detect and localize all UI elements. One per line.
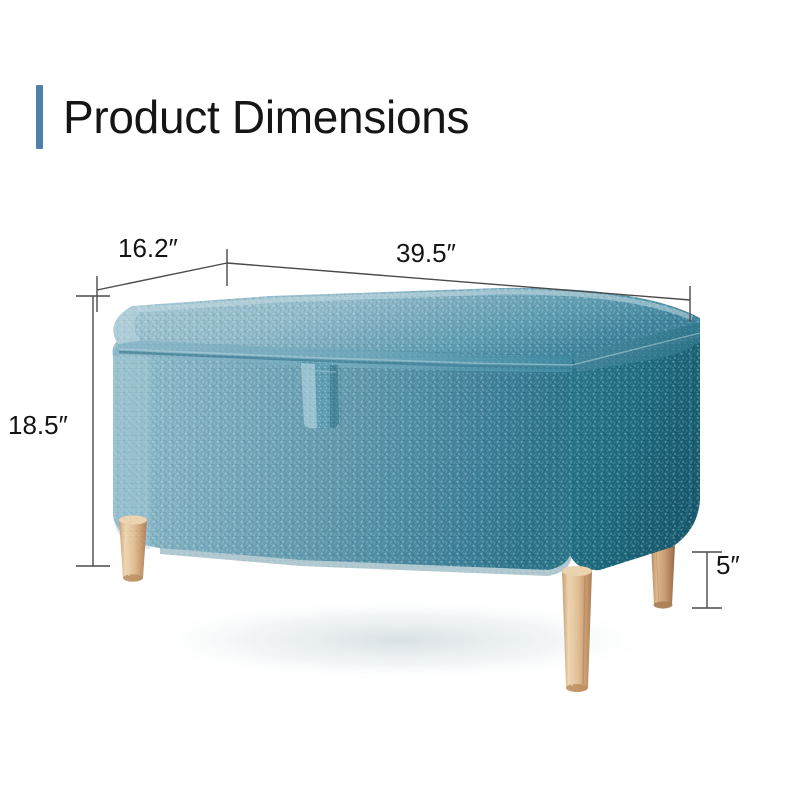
dimension-label-leg-height: 5″: [716, 550, 740, 581]
dimension-label-depth: 16.2″: [118, 233, 178, 264]
dimension-label-width: 39.5″: [396, 238, 456, 269]
leg-front-right: [562, 566, 592, 692]
storage-bench-illustration: [0, 0, 800, 800]
dimension-label-height: 18.5″: [8, 410, 68, 441]
fabric-texture-overlay: [113, 288, 700, 576]
product-dimensions-infographic: Product Dimensions: [0, 0, 800, 800]
